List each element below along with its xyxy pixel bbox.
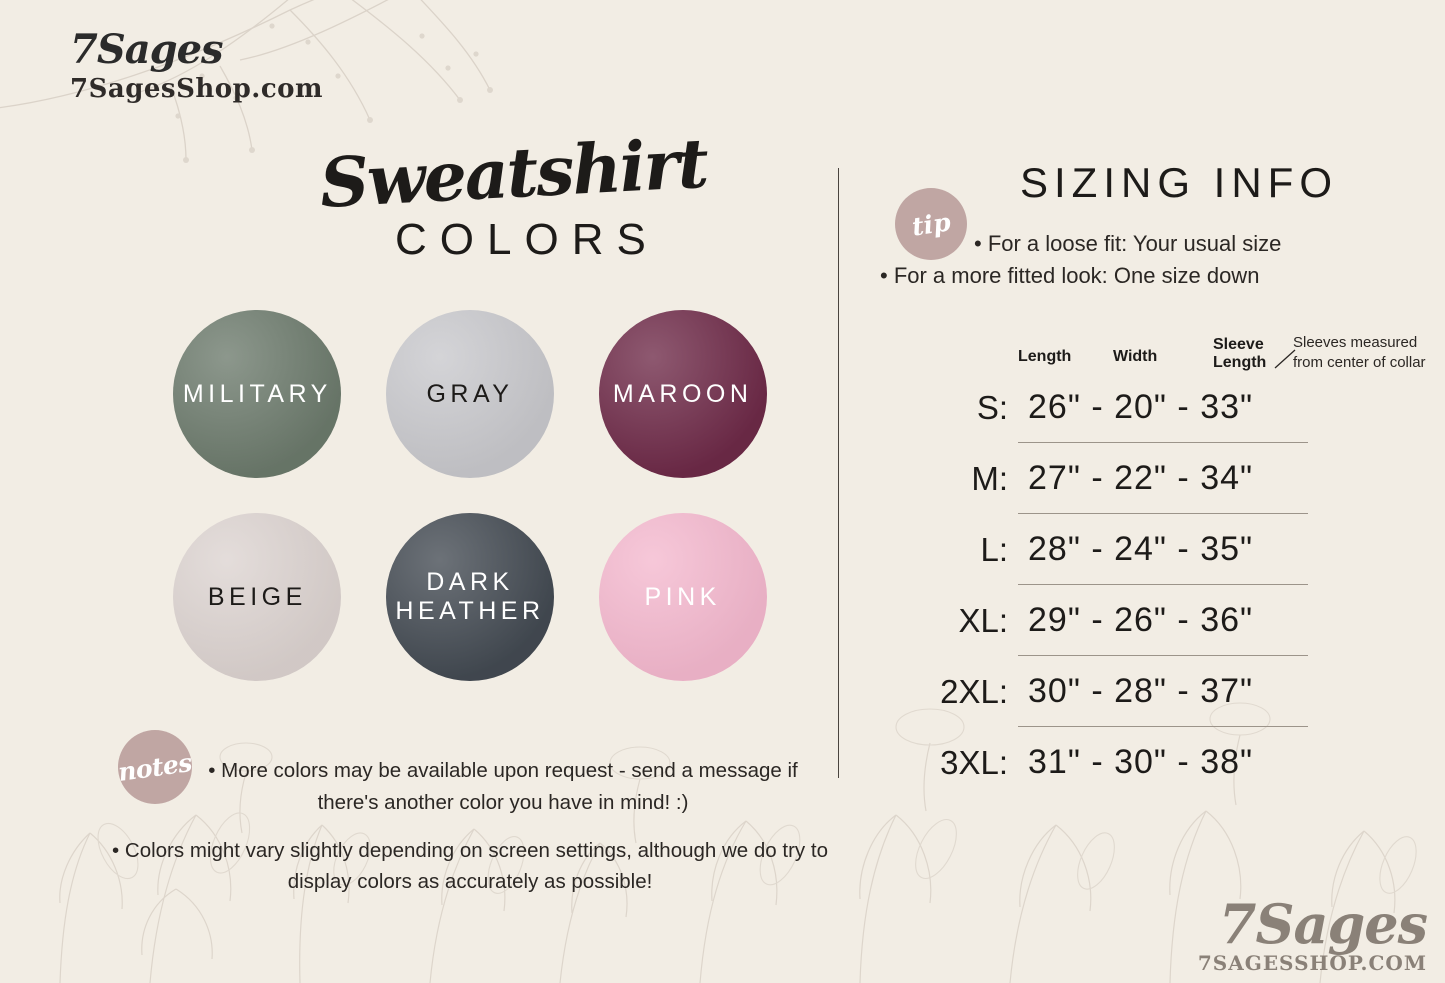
page-title-sub: COLORS xyxy=(395,218,659,262)
size-label: XL: xyxy=(838,602,1028,640)
color-swatch-label: MILITARY xyxy=(183,380,332,409)
fit-tips: • For a loose fit: Your usual size • For… xyxy=(878,228,1438,292)
watermark: 7Sages 7SAGESSHOP.COM xyxy=(1198,897,1427,973)
size-row: 2XL: 30" - 28" - 37" xyxy=(838,656,1445,727)
size-values: 30" - 28" - 37" xyxy=(1028,672,1253,711)
note-paragraph: • Colors might vary slightly depending o… xyxy=(110,835,830,899)
color-swatch-label: DARK HEATHER xyxy=(395,568,544,626)
watermark-domain: 7SAGESSHOP.COM xyxy=(1198,953,1427,973)
size-label: L: xyxy=(838,531,1028,569)
sizing-section: tip SIZING INFO • For a loose fit: Your … xyxy=(838,0,1445,983)
size-label: 3XL: xyxy=(838,744,1028,782)
color-swatch-label: MAROON xyxy=(613,380,753,409)
column-header-width: Width xyxy=(1113,348,1157,366)
color-swatch-label: GRAY xyxy=(426,380,513,409)
size-values: 29" - 26" - 36" xyxy=(1028,601,1253,640)
size-row: M: 27" - 22" - 34" xyxy=(838,443,1445,514)
color-swatch-label: BEIGE xyxy=(208,583,307,612)
size-row: L: 28" - 24" - 35" xyxy=(838,514,1445,585)
color-swatch-label: PINK xyxy=(644,583,720,612)
color-swatch-gray[interactable]: GRAY xyxy=(386,310,554,478)
swatch-cell: GRAY xyxy=(373,310,568,478)
notes-body: • More colors may be available upon requ… xyxy=(110,755,830,898)
color-swatch-beige[interactable]: BEIGE xyxy=(173,513,341,681)
column-header-sleeve-length: Sleeve Length xyxy=(1213,336,1266,373)
swatch-cell: DARK HEATHER xyxy=(373,513,568,681)
color-swatch-grid: MILITARY GRAY MAROON BEIGE DARK HEATHER xyxy=(160,310,780,681)
fit-tip-item: • For a more fitted look: One size down xyxy=(878,260,1438,292)
swatch-cell: BEIGE xyxy=(160,513,355,681)
size-label: M: xyxy=(838,460,1028,498)
swatch-cell: PINK xyxy=(585,513,780,681)
size-values: 28" - 24" - 35" xyxy=(1028,530,1253,569)
column-header-length: Length xyxy=(1018,348,1071,366)
swatch-cell: MILITARY xyxy=(160,310,355,478)
size-table-headers: Length Width Sleeve Length Sleeves measu… xyxy=(838,330,1445,372)
color-swatch-pink[interactable]: PINK xyxy=(599,513,767,681)
swatch-cell: MAROON xyxy=(585,310,780,478)
size-values: 31" - 30" - 38" xyxy=(1028,743,1253,782)
fit-tip-item: • For a loose fit: Your usual size xyxy=(878,228,1438,260)
sizing-title: SIZING INFO xyxy=(1020,162,1338,204)
size-values: 27" - 22" - 34" xyxy=(1028,459,1253,498)
sleeve-measurement-note: Sleeves measured from center of collar xyxy=(1293,333,1426,372)
size-row: S: 26" - 20" - 33" xyxy=(838,372,1445,443)
size-table: Length Width Sleeve Length Sleeves measu… xyxy=(838,330,1445,798)
color-swatch-maroon[interactable]: MAROON xyxy=(599,310,767,478)
size-label: S: xyxy=(838,389,1028,427)
colors-section: Sweatshirt COLORS MILITARY GRAY MAROON B… xyxy=(0,0,838,983)
page-title-script: Sweatshirt xyxy=(318,130,708,218)
watermark-script: 7Sages xyxy=(1198,897,1427,951)
size-row: XL: 29" - 26" - 36" xyxy=(838,585,1445,656)
color-swatch-dark-heather[interactable]: DARK HEATHER xyxy=(386,513,554,681)
note-paragraph: • More colors may be available upon requ… xyxy=(110,755,830,819)
size-label: 2XL: xyxy=(838,673,1028,711)
size-values: 26" - 20" - 33" xyxy=(1028,388,1253,427)
size-row: 3XL: 31" - 30" - 38" xyxy=(838,727,1445,798)
color-swatch-military[interactable]: MILITARY xyxy=(173,310,341,478)
